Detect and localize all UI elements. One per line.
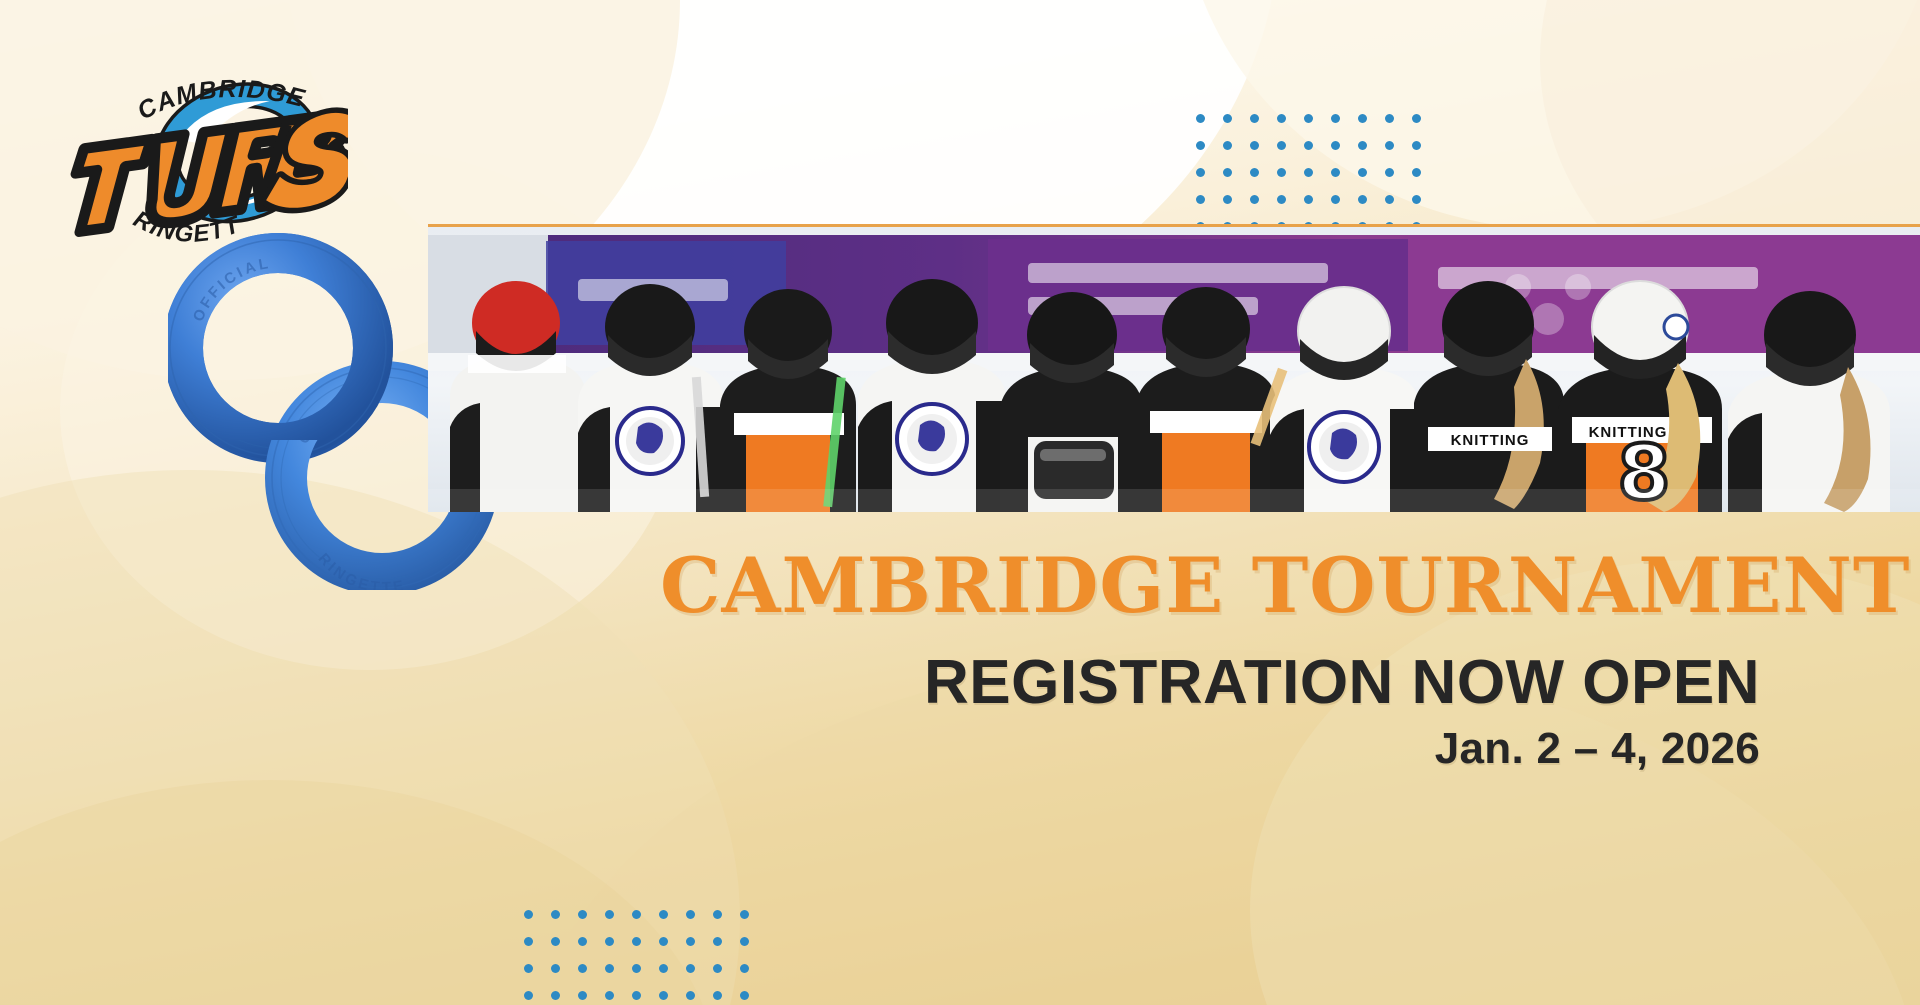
- ringette-team-photo: KNITTING KNITTING BY 8: [428, 224, 1920, 512]
- subtitle: REGISTRATION NOW OPEN: [660, 650, 1760, 715]
- promo-banner: CAMBRIDGE RINGETTE: [0, 0, 1920, 1005]
- event-date: Jan. 2 – 4, 2026: [660, 726, 1760, 772]
- team-logo: CAMBRIDGE RINGETTE: [48, 44, 348, 256]
- svg-text:KNITTING: KNITTING: [1451, 432, 1530, 449]
- page-title: CAMBRIDGE TOURNAMENT: [660, 548, 1760, 624]
